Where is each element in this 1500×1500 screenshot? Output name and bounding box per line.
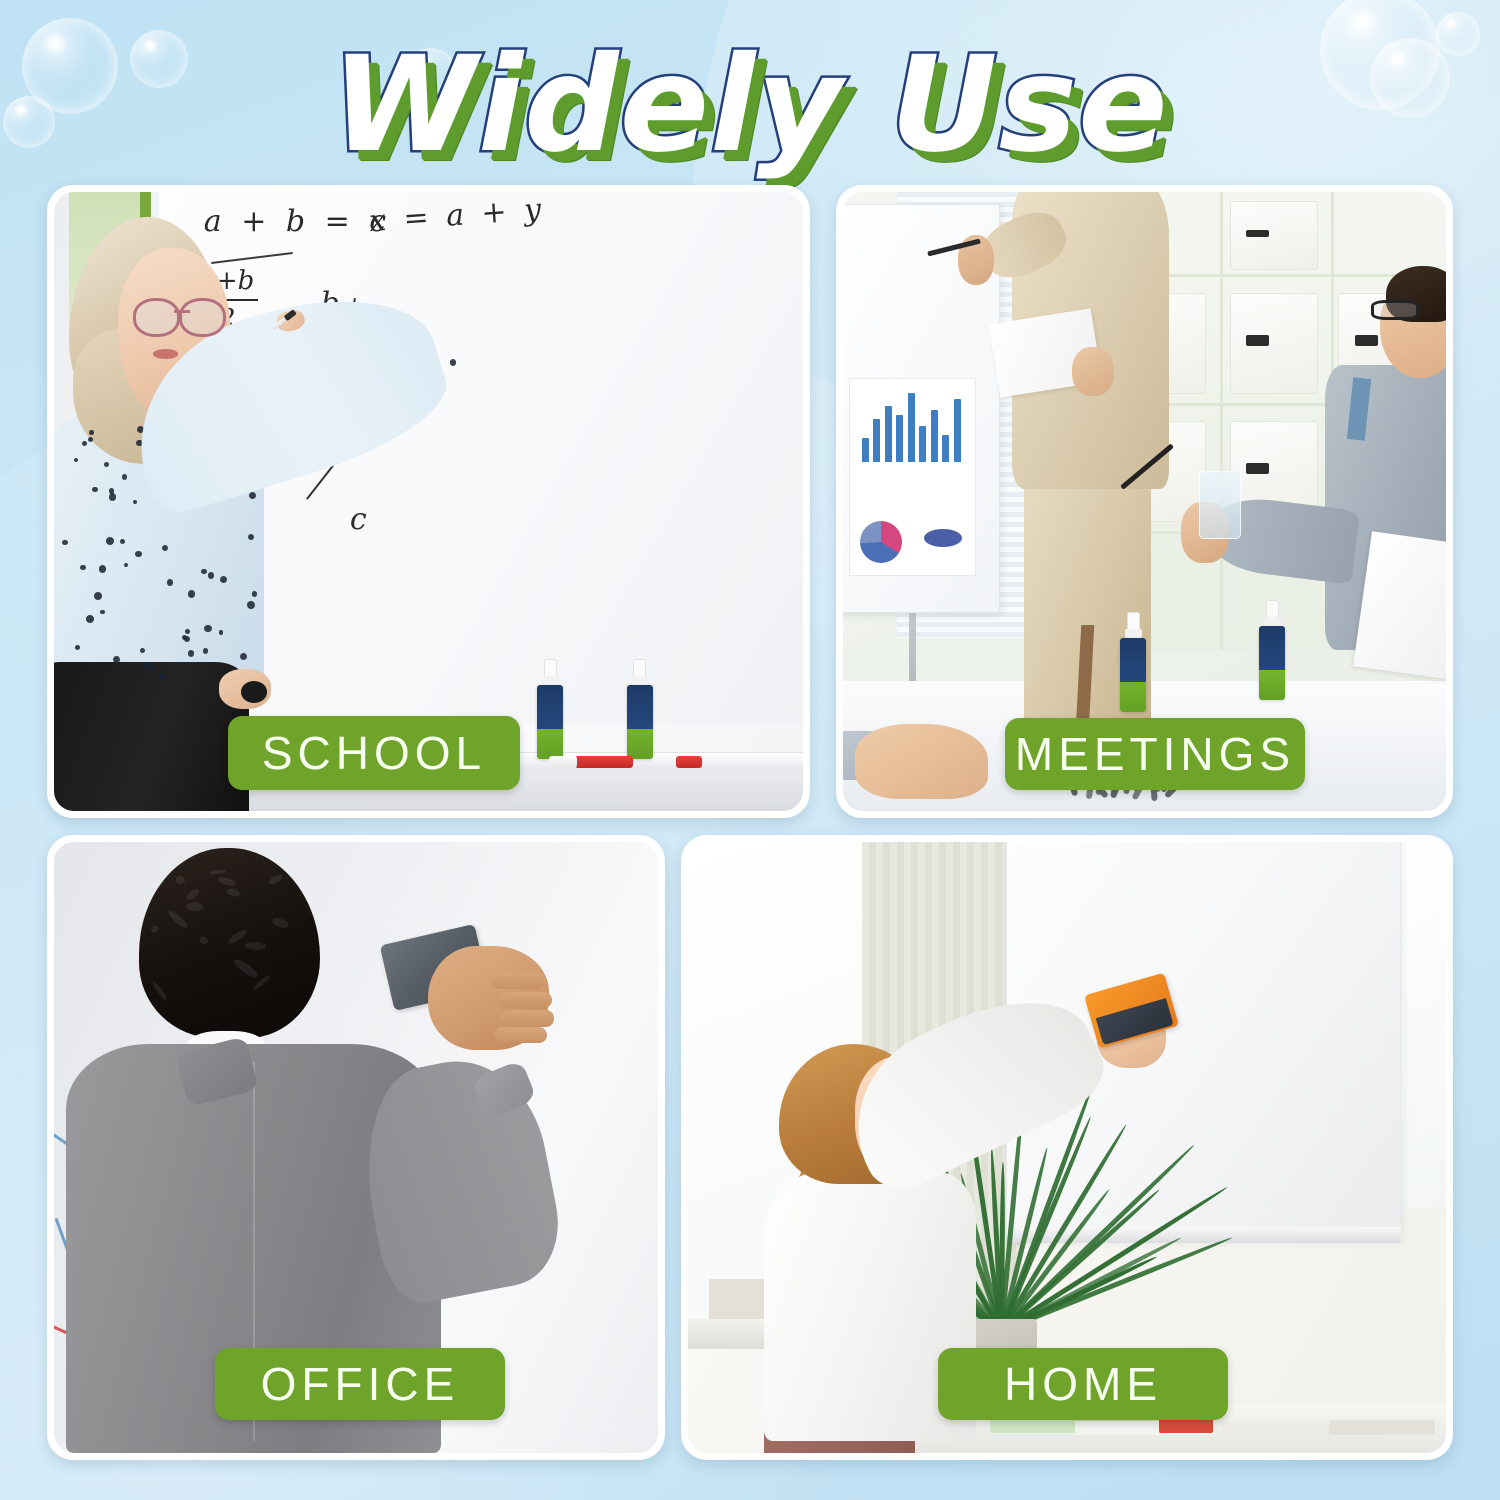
water-glass — [1199, 471, 1241, 539]
badge-meetings[interactable]: MEETINGS — [1005, 718, 1305, 790]
red-marker-cap — [676, 756, 702, 768]
page-title-text: Widely Use — [331, 34, 1168, 177]
bubble-icon — [130, 30, 188, 88]
eyeglasses — [133, 298, 227, 330]
storage-box — [1230, 201, 1318, 270]
storage-box — [1230, 293, 1318, 394]
bubble-icon — [1370, 38, 1450, 118]
chart-printout — [849, 378, 976, 576]
bubble-icon — [405, 48, 457, 100]
spray-bottle-1 — [537, 660, 563, 759]
page-title: Widely Use — [0, 34, 1500, 177]
man-hand — [428, 946, 549, 1050]
infographic-page: Widely Use a + b = c x = a + y a+b 2 b c — [0, 0, 1500, 1500]
bubble-icon — [1436, 12, 1480, 56]
badge-home[interactable]: HOME — [938, 1348, 1228, 1420]
bubble-icon — [22, 18, 118, 114]
attendee-glasses — [1371, 300, 1419, 320]
badge-office[interactable]: OFFICE — [215, 1348, 505, 1420]
spray-bottle-1 — [1120, 613, 1146, 712]
spray-bottle-2 — [627, 660, 653, 759]
badge-school[interactable]: SCHOOL — [228, 716, 520, 790]
whiteboard-equation-1: a + b = c — [204, 204, 391, 239]
red-marker — [575, 756, 633, 768]
spray-bottle-2 — [1259, 601, 1285, 700]
bubble-icon — [1320, 0, 1440, 110]
bubble-icon — [3, 96, 55, 148]
triangle-vertex-label-c: c — [350, 502, 367, 537]
